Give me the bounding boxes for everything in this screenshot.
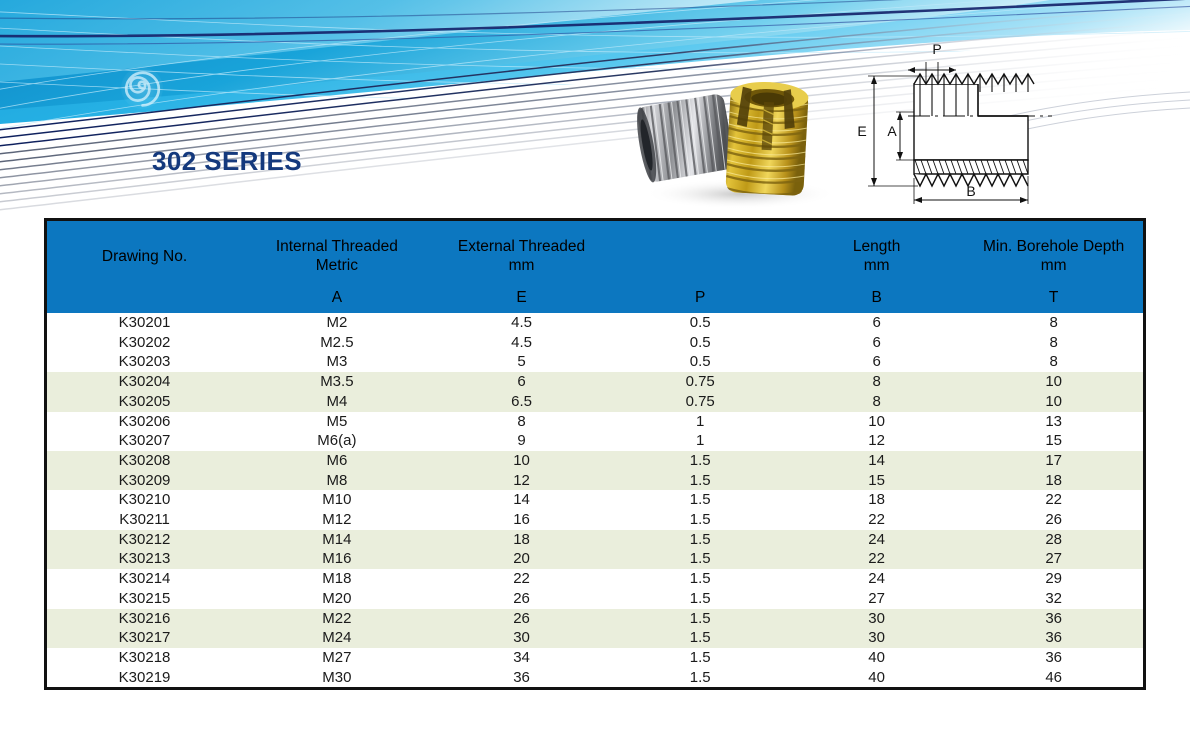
spec-table-container: Drawing No. Internal Threaded Metric Ext… — [44, 218, 1146, 690]
col-header-line1: Length — [791, 237, 962, 256]
cell-P: 1.5 — [611, 530, 789, 550]
cell-Drawing No.: K30213 — [47, 549, 242, 569]
cell-E: 26 — [432, 609, 612, 629]
cell-T: 27 — [964, 549, 1143, 569]
cell-A: M14 — [242, 530, 432, 550]
cell-T: 32 — [964, 589, 1143, 609]
cell-T: 29 — [964, 569, 1143, 589]
cell-A: M20 — [242, 589, 432, 609]
cell-A: M30 — [242, 668, 432, 688]
symbol-p: P — [611, 287, 789, 313]
cell-Drawing No.: K30214 — [47, 569, 242, 589]
table-row: K30215M20261.52732 — [47, 589, 1143, 609]
cell-A: M8 — [242, 471, 432, 491]
cell-T: 17 — [964, 451, 1143, 471]
cell-E: 4.5 — [432, 313, 612, 333]
cell-E: 8 — [432, 412, 612, 432]
table-row: K30205M46.50.75810 — [47, 392, 1143, 412]
cell-A: M3 — [242, 352, 432, 372]
cell-Drawing No.: K30219 — [47, 668, 242, 688]
dim-label-e: E — [857, 123, 866, 139]
cell-B: 40 — [789, 668, 964, 688]
table-row: K30204M3.560.75810 — [47, 372, 1143, 392]
table-row: K30206M5811013 — [47, 412, 1143, 432]
cell-P: 0.75 — [611, 372, 789, 392]
cell-P: 1.5 — [611, 609, 789, 629]
symbol-drawing-no — [47, 287, 242, 313]
cell-A: M10 — [242, 490, 432, 510]
table-row: K30211M12161.52226 — [47, 510, 1143, 530]
cell-Drawing No.: K30209 — [47, 471, 242, 491]
cell-P: 1.5 — [611, 648, 789, 668]
cell-E: 20 — [432, 549, 612, 569]
table-row: K30208M6101.51417 — [47, 451, 1143, 471]
dim-label-b: B — [966, 183, 975, 199]
cell-T: 36 — [964, 609, 1143, 629]
cell-T: 10 — [964, 392, 1143, 412]
cell-Drawing No.: K30206 — [47, 412, 242, 432]
symbol-b: B — [789, 287, 964, 313]
cell-Drawing No.: K30217 — [47, 628, 242, 648]
cell-B: 22 — [789, 510, 964, 530]
cell-Drawing No.: K30203 — [47, 352, 242, 372]
table-row: K30209M8121.51518 — [47, 471, 1143, 491]
table-header-group-row: Drawing No. Internal Threaded Metric Ext… — [47, 221, 1143, 287]
col-header-line2: mm — [791, 256, 962, 275]
table-row: K30210M10141.51822 — [47, 490, 1143, 510]
cell-B: 24 — [789, 569, 964, 589]
cell-Drawing No.: K30204 — [47, 372, 242, 392]
cell-P: 1.5 — [611, 510, 789, 530]
col-header-external-threaded: External Threaded mm — [432, 221, 612, 287]
cell-T: 22 — [964, 490, 1143, 510]
cell-P: 1.5 — [611, 490, 789, 510]
table-row: K30219M30361.54046 — [47, 668, 1143, 688]
cell-P: 1.5 — [611, 668, 789, 688]
cell-B: 6 — [789, 352, 964, 372]
symbol-t: T — [964, 287, 1143, 313]
col-header-line1: External Threaded — [434, 237, 610, 256]
table-row: K30216M22261.53036 — [47, 609, 1143, 629]
table-row: K30217M24301.53036 — [47, 628, 1143, 648]
cell-Drawing No.: K30212 — [47, 530, 242, 550]
cell-T: 10 — [964, 372, 1143, 392]
col-header-min-borehole-depth: Min. Borehole Depth mm — [964, 221, 1143, 287]
symbol-e: E — [432, 287, 612, 313]
cell-B: 30 — [789, 609, 964, 629]
spec-table: Drawing No. Internal Threaded Metric Ext… — [47, 221, 1143, 687]
cell-E: 6 — [432, 372, 612, 392]
cell-B: 10 — [789, 412, 964, 432]
table-row: K30214M18221.52429 — [47, 569, 1143, 589]
cell-A: M2 — [242, 313, 432, 333]
cell-P: 0.5 — [611, 352, 789, 372]
cell-B: 22 — [789, 549, 964, 569]
table-row: K30201M24.50.568 — [47, 313, 1143, 333]
cell-P: 0.5 — [611, 333, 789, 353]
cell-B: 6 — [789, 313, 964, 333]
cell-A: M4 — [242, 392, 432, 412]
cell-T: 36 — [964, 628, 1143, 648]
cell-P: 0.75 — [611, 392, 789, 412]
col-header-line2: mm — [966, 256, 1141, 275]
cell-P: 1.5 — [611, 569, 789, 589]
col-header-line1: Drawing No. — [49, 247, 240, 266]
cell-Drawing No.: K30218 — [47, 648, 242, 668]
cell-B: 18 — [789, 490, 964, 510]
dim-label-p: P — [932, 41, 941, 57]
cell-B: 8 — [789, 372, 964, 392]
cell-T: 18 — [964, 471, 1143, 491]
cell-Drawing No.: K30208 — [47, 451, 242, 471]
table-row: K30203M350.568 — [47, 352, 1143, 372]
cell-A: M2.5 — [242, 333, 432, 353]
cell-Drawing No.: K30201 — [47, 313, 242, 333]
cell-E: 10 — [432, 451, 612, 471]
cell-B: 8 — [789, 392, 964, 412]
table-row: K30212M14181.52428 — [47, 530, 1143, 550]
cell-P: 1.5 — [611, 589, 789, 609]
product-photo — [636, 72, 860, 210]
cell-A: M16 — [242, 549, 432, 569]
cell-T: 46 — [964, 668, 1143, 688]
cell-P: 1.5 — [611, 471, 789, 491]
cell-P: 1 — [611, 431, 789, 451]
cell-A: M24 — [242, 628, 432, 648]
cell-B: 15 — [789, 471, 964, 491]
cell-E: 16 — [432, 510, 612, 530]
cell-A: M22 — [242, 609, 432, 629]
table-row: K30218M27341.54036 — [47, 648, 1143, 668]
cell-P: 1.5 — [611, 451, 789, 471]
cell-E: 22 — [432, 569, 612, 589]
cell-P: 1 — [611, 412, 789, 432]
cell-E: 30 — [432, 628, 612, 648]
col-header-line2: Metric — [244, 256, 430, 275]
cell-E: 9 — [432, 431, 612, 451]
table-row: K30202M2.54.50.568 — [47, 333, 1143, 353]
cell-E: 36 — [432, 668, 612, 688]
col-header-length: Length mm — [789, 221, 964, 287]
page-title: 302 SERIES — [152, 146, 302, 177]
cell-T: 8 — [964, 313, 1143, 333]
technical-drawing: P E A B — [852, 32, 1142, 214]
table-header: Drawing No. Internal Threaded Metric Ext… — [47, 221, 1143, 313]
cell-Drawing No.: K30211 — [47, 510, 242, 530]
cell-P: 1.5 — [611, 549, 789, 569]
cell-Drawing No.: K30205 — [47, 392, 242, 412]
cell-A: M12 — [242, 510, 432, 530]
cell-B: 40 — [789, 648, 964, 668]
cell-B: 14 — [789, 451, 964, 471]
cell-Drawing No.: K30210 — [47, 490, 242, 510]
cell-B: 12 — [789, 431, 964, 451]
cell-B: 24 — [789, 530, 964, 550]
cell-A: M6 — [242, 451, 432, 471]
cell-Drawing No.: K30216 — [47, 609, 242, 629]
table-body: K30201M24.50.568K30202M2.54.50.568K30203… — [47, 313, 1143, 687]
cell-T: 8 — [964, 352, 1143, 372]
cell-P: 1.5 — [611, 628, 789, 648]
cell-E: 4.5 — [432, 333, 612, 353]
cell-T: 15 — [964, 431, 1143, 451]
cell-T: 8 — [964, 333, 1143, 353]
cell-T: 36 — [964, 648, 1143, 668]
cell-B: 30 — [789, 628, 964, 648]
col-header-line2: mm — [434, 256, 610, 275]
cell-P: 0.5 — [611, 313, 789, 333]
cell-E: 5 — [432, 352, 612, 372]
cell-A: M5 — [242, 412, 432, 432]
cell-T: 26 — [964, 510, 1143, 530]
cell-T: 13 — [964, 412, 1143, 432]
cell-T: 28 — [964, 530, 1143, 550]
cell-E: 6.5 — [432, 392, 612, 412]
col-header-drawing-no: Drawing No. — [47, 221, 242, 287]
cell-Drawing No.: K30207 — [47, 431, 242, 451]
cell-A: M27 — [242, 648, 432, 668]
symbol-a: A — [242, 287, 432, 313]
cell-E: 26 — [432, 589, 612, 609]
dim-label-a: A — [887, 123, 897, 139]
col-header-pitch — [611, 221, 789, 287]
table-header-symbol-row: A E P B T — [47, 287, 1143, 313]
col-header-internal-threaded: Internal Threaded Metric — [242, 221, 432, 287]
cell-A: M18 — [242, 569, 432, 589]
cell-E: 14 — [432, 490, 612, 510]
cell-E: 12 — [432, 471, 612, 491]
table-row: K30213M16201.52227 — [47, 549, 1143, 569]
cell-A: M3.5 — [242, 372, 432, 392]
cell-A: M6(a) — [242, 431, 432, 451]
col-header-line1: Min. Borehole Depth — [966, 237, 1141, 256]
cell-E: 34 — [432, 648, 612, 668]
col-header-line1: Internal Threaded — [244, 237, 430, 256]
cell-E: 18 — [432, 530, 612, 550]
cell-B: 6 — [789, 333, 964, 353]
cell-Drawing No.: K30202 — [47, 333, 242, 353]
cell-Drawing No.: K30215 — [47, 589, 242, 609]
table-row: K30207M6(a)911215 — [47, 431, 1143, 451]
cell-B: 27 — [789, 589, 964, 609]
